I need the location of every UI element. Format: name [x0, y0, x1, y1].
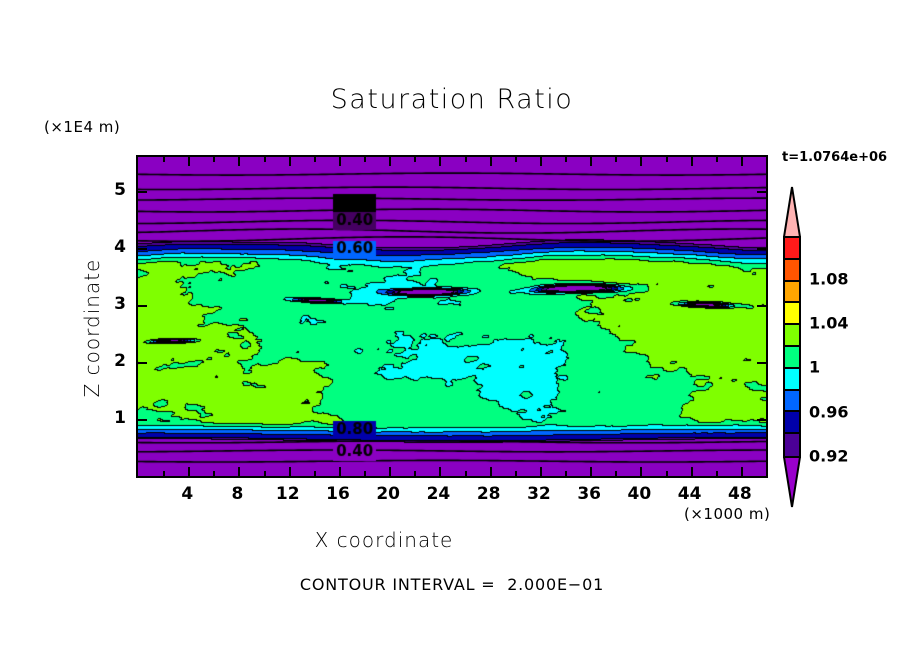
x-axis-minor-tick — [414, 157, 416, 162]
x-axis-tick — [238, 467, 240, 476]
x-axis-tick — [289, 157, 291, 166]
y-axis-tick-label: 3 — [104, 294, 126, 314]
x-axis-minor-tick — [264, 471, 266, 476]
y-axis-tick — [138, 191, 147, 193]
x-axis-minor-tick — [465, 471, 467, 476]
colorbar-tick-label: 1.08 — [809, 269, 848, 288]
y-axis-tick — [757, 305, 766, 307]
x-axis-tick — [540, 467, 542, 476]
x-axis-tick — [289, 467, 291, 476]
x-axis-minor-tick — [414, 471, 416, 476]
y-axis-tick — [138, 248, 147, 250]
colorbar-band — [785, 369, 799, 391]
colorbar-band — [785, 238, 799, 260]
x-axis-minor-tick — [364, 157, 366, 162]
x-axis-tick-label: 32 — [527, 484, 551, 504]
x-axis-tick-label: 24 — [427, 484, 451, 504]
x-axis-tick — [339, 467, 341, 476]
x-axis-minor-tick — [666, 157, 668, 162]
x-axis-minor-tick — [213, 471, 215, 476]
x-axis-minor-tick — [515, 471, 517, 476]
x-axis-minor-tick — [314, 471, 316, 476]
x-axis-tick-label: 8 — [232, 484, 244, 504]
y-axis-tick — [138, 362, 147, 364]
contour-plot-area[interactable] — [136, 155, 768, 478]
x-axis-title: X coordinate — [0, 528, 768, 552]
x-axis-minor-tick — [615, 157, 617, 162]
colorbar-bottom-arrow-icon — [783, 456, 801, 508]
colorbar-tick-label: 1 — [809, 358, 820, 377]
x-axis-tick-label: 28 — [477, 484, 501, 504]
x-axis-minor-tick — [515, 157, 517, 162]
x-axis-minor-tick — [213, 157, 215, 162]
x-axis-tick-label: 16 — [326, 484, 350, 504]
x-axis-tick — [490, 467, 492, 476]
y-axis-title: Z coordinate — [80, 228, 104, 428]
x-axis-tick-label: 40 — [628, 484, 652, 504]
x-axis-tick — [188, 157, 190, 166]
x-axis-minor-tick — [264, 157, 266, 162]
x-axis-tick-label: 20 — [376, 484, 400, 504]
x-axis-tick-label: 44 — [678, 484, 702, 504]
x-axis-tick — [339, 157, 341, 166]
colorbar-top-arrow-icon — [783, 186, 801, 238]
z-axis-unit-label: (×1E4 m) — [44, 118, 120, 136]
x-axis-tick — [439, 157, 441, 166]
y-axis-tick — [757, 362, 766, 364]
x-axis-minor-tick — [565, 471, 567, 476]
x-axis-tick-label: 36 — [577, 484, 601, 504]
y-axis-tick-label: 2 — [104, 351, 126, 371]
x-axis-tick — [540, 157, 542, 166]
y-axis-tick — [138, 419, 147, 421]
x-axis-minor-tick — [163, 157, 165, 162]
colorbar-tick-label: 1.04 — [809, 314, 848, 333]
x-axis-unit-label: (×1000 m) — [684, 505, 770, 523]
y-axis-tick-label: 1 — [104, 408, 126, 428]
colorbar-band — [785, 434, 799, 456]
colorbar[interactable]: 1.081.0410.960.92 — [783, 186, 801, 506]
x-axis-tick — [691, 467, 693, 476]
x-axis-tick — [691, 157, 693, 166]
colorbar-bands — [783, 236, 801, 458]
x-axis-minor-tick — [465, 157, 467, 162]
colorbar-tick-label: 0.92 — [809, 447, 848, 466]
colorbar-band — [785, 347, 799, 369]
x-axis-tick-label: 12 — [276, 484, 300, 504]
scalar-field-canvas — [138, 157, 766, 476]
x-axis-minor-tick — [364, 471, 366, 476]
x-axis-minor-tick — [163, 471, 165, 476]
x-axis-tick — [741, 157, 743, 166]
x-axis-tick — [741, 467, 743, 476]
x-axis-tick — [188, 467, 190, 476]
x-axis-tick-label: 4 — [181, 484, 193, 504]
contour-interval-caption: CONTOUR INTERVAL = 2.000E−01 — [0, 575, 904, 594]
colorbar-band — [785, 412, 799, 434]
x-axis-tick-label: 48 — [728, 484, 752, 504]
x-axis-minor-tick — [666, 471, 668, 476]
y-axis-tick — [757, 248, 766, 250]
colorbar-tick-label: 0.96 — [809, 402, 848, 421]
colorbar-band — [785, 260, 799, 282]
y-axis-tick — [757, 419, 766, 421]
y-axis-tick-label: 4 — [104, 237, 126, 257]
page-title: Saturation Ratio — [0, 84, 904, 115]
x-axis-minor-tick — [716, 471, 718, 476]
x-axis-tick — [389, 157, 391, 166]
x-axis-minor-tick — [615, 471, 617, 476]
x-axis-tick — [590, 467, 592, 476]
colorbar-band — [785, 391, 799, 413]
x-axis-tick — [439, 467, 441, 476]
x-axis-tick — [389, 467, 391, 476]
x-axis-minor-tick — [716, 157, 718, 162]
colorbar-band — [785, 325, 799, 347]
x-axis-tick — [640, 467, 642, 476]
timestamp-label: t=1.0764e+06 — [782, 150, 887, 165]
y-axis-tick — [138, 305, 147, 307]
x-axis-minor-tick — [314, 157, 316, 162]
y-axis-tick — [757, 191, 766, 193]
x-axis-tick — [490, 157, 492, 166]
y-axis-tick-label: 5 — [104, 180, 126, 200]
colorbar-band — [785, 282, 799, 304]
x-axis-minor-tick — [565, 157, 567, 162]
x-axis-tick — [640, 157, 642, 166]
colorbar-band — [785, 303, 799, 325]
x-axis-tick — [238, 157, 240, 166]
x-axis-tick — [590, 157, 592, 166]
